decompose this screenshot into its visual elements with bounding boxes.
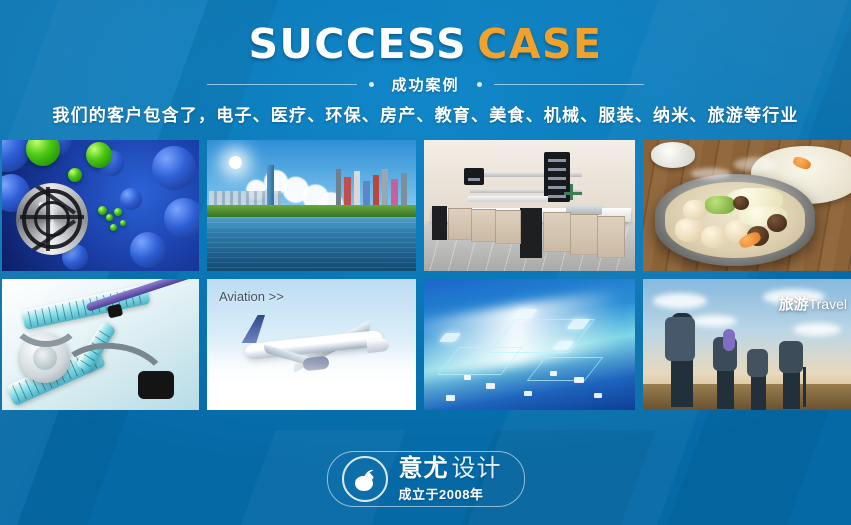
sun-icon xyxy=(229,156,242,169)
subtitle-cn: 成功案例 xyxy=(391,74,459,95)
travel-caption: 旅游Travel xyxy=(779,293,847,314)
case-gallery-grid: Aviation >> xyxy=(2,140,849,410)
case-image-environment[interactable] xyxy=(207,140,416,271)
stethoscope-tube xyxy=(50,337,174,410)
case-image-medical[interactable] xyxy=(2,279,199,410)
brand-name: 意尤设计 xyxy=(399,457,502,481)
divider-dot-right xyxy=(477,82,482,87)
brand-established: 成立于2008年 xyxy=(399,488,502,501)
travel-caption-cn: 旅游 xyxy=(779,296,809,313)
brand-name-bold: 意尤 xyxy=(399,455,449,482)
case-image-nanotech[interactable] xyxy=(2,140,199,271)
poster-header: SUCCESSCASE 成功案例 我们的客户包含了，电子、医疗、环保、房产、教育… xyxy=(0,0,851,132)
poster-canvas: SUCCESSCASE 成功案例 我们的客户包含了，电子、医疗、环保、房产、教育… xyxy=(0,0,851,525)
case-image-electronics[interactable] xyxy=(424,279,635,410)
aviation-caption: Aviation >> xyxy=(219,289,284,304)
brand-logo[interactable]: 意尤设计 成立于2008年 xyxy=(327,451,525,507)
bird-mark-icon xyxy=(342,456,388,502)
water-surface xyxy=(207,217,416,271)
case-image-laboratory-furniture[interactable] xyxy=(424,140,635,271)
steam xyxy=(669,146,809,192)
divider-line-left xyxy=(207,84,357,85)
page-title: SUCCESSCASE xyxy=(0,22,851,66)
brand-name-light: 设计 xyxy=(452,455,502,482)
tagline-text: 我们的客户包含了，电子、医疗、环保、房产、教育、美食、机械、服装、纳米、旅游等行… xyxy=(0,101,851,126)
clouds xyxy=(207,348,416,410)
title-case: CASE xyxy=(477,20,602,68)
title-success: SUCCESS xyxy=(248,20,467,68)
divider-dot-left xyxy=(369,82,374,87)
divider-line-right xyxy=(494,84,644,85)
case-image-aviation[interactable]: Aviation >> xyxy=(207,279,416,410)
case-image-travel[interactable]: 旅游Travel xyxy=(643,279,851,410)
travel-caption-en: Travel xyxy=(809,296,847,312)
fullerene-cage xyxy=(16,183,88,255)
case-image-food[interactable] xyxy=(643,140,851,271)
subtitle-row: 成功案例 xyxy=(0,72,851,96)
backpack xyxy=(665,317,695,361)
bench-end-panel xyxy=(432,206,447,240)
wall-unit xyxy=(464,168,484,185)
plane-tail xyxy=(239,315,265,343)
brand-logo-area: 意尤设计 成立于2008年 xyxy=(0,451,851,507)
